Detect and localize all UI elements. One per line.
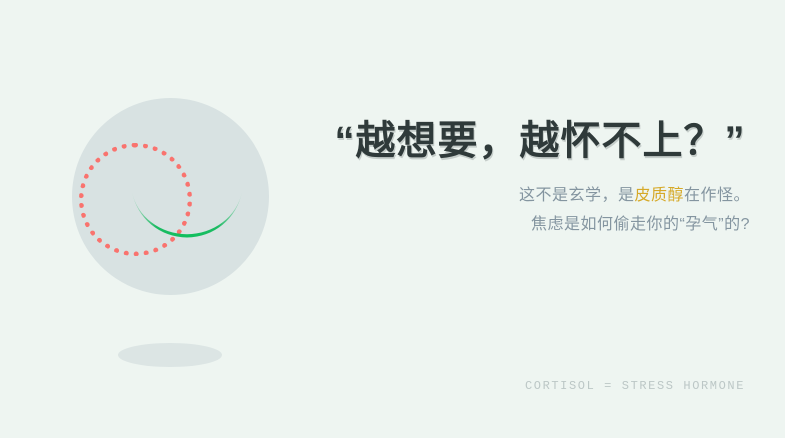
subtitle-line-1-before: 这不是玄学，是 <box>519 187 635 204</box>
green-smile-arc-icon <box>128 190 246 250</box>
content-panel: “越想要，越怀不上？” 这不是玄学，是皮质醇在作怪。 焦虑是如何偷走你的“孕气”… <box>330 0 785 438</box>
subtitle-line-1: 这不是玄学，是皮质醇在作怪。 <box>330 181 750 210</box>
page-title: “越想要，越怀不上？” <box>330 108 750 166</box>
subtitle-line-1-after: 在作怪。 <box>684 187 750 204</box>
slide-canvas: “越想要，越怀不上？” 这不是玄学，是皮质醇在作怪。 焦虑是如何偷走你的“孕气”… <box>0 0 785 438</box>
footnote-caption: CORTISOL = STRESS HORMONE <box>330 379 745 393</box>
subtitle-highlight-cortisol: 皮质醇 <box>634 187 684 204</box>
ground-shadow-ellipse <box>118 343 222 367</box>
subtitle-line-2: 焦虑是如何偷走你的“孕气”的? <box>330 210 750 239</box>
subtitle-block: 这不是玄学，是皮质醇在作怪。 焦虑是如何偷走你的“孕气”的? <box>330 181 750 239</box>
illustration-panel <box>0 0 330 438</box>
